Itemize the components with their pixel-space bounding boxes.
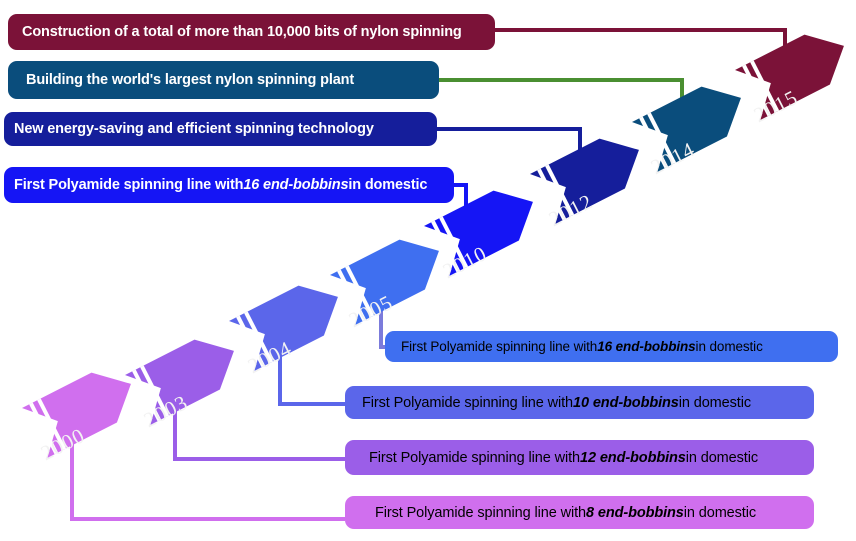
arrow-2004 (229, 272, 351, 371)
connector-2000 (72, 443, 345, 519)
label-text-2010-before: First Polyamide spinning line with (14, 177, 243, 193)
label-box-2012[interactable]: New energy-saving and efficient spinning… (4, 112, 437, 146)
label-box-2004[interactable]: First Polyamide spinning line with 10 en… (345, 386, 814, 419)
label-text-2004-after: in domestic (679, 395, 751, 411)
label-text-2004-before: First Polyamide spinning line with (362, 395, 573, 411)
label-emphasis-2000: 8 end-bobbins (586, 505, 684, 521)
label-emphasis-2010: 16 end-bobbins (243, 177, 348, 193)
label-box-2010[interactable]: First Polyamide spinning line with 16 en… (4, 167, 454, 203)
label-box-2015[interactable]: Construction of a total of more than 10,… (8, 14, 495, 50)
label-text-2000-before: First Polyamide spinning line with (375, 505, 586, 521)
label-text-2015: Construction of a total of more than 10,… (22, 24, 462, 40)
label-text-2012: New energy-saving and efficient spinning… (14, 121, 374, 137)
arrow-2012 (530, 125, 652, 224)
label-text-2000-after: in domestic (684, 505, 756, 521)
label-text-2014: Building the world's largest nylon spinn… (26, 72, 354, 88)
label-emphasis-2004: 10 end-bobbins (573, 395, 679, 411)
label-text-2010-after: in domestic (348, 177, 427, 193)
timeline-diagram: 2000 2003 2004 2005 2010 2012 2014 2015 … (0, 0, 856, 541)
label-box-2003[interactable]: First Polyamide spinning line with 12 en… (345, 440, 814, 475)
label-text-2003-after: in domestic (686, 450, 758, 466)
connector-2003 (175, 410, 345, 459)
label-text-2005-after: in domestic (696, 339, 763, 354)
label-text-2005-before: First Polyamide spinning line with (401, 339, 597, 354)
label-emphasis-2005: 16 end-bobbins (597, 339, 695, 354)
label-box-2014[interactable]: Building the world's largest nylon spinn… (8, 61, 439, 99)
connector-2015 (495, 30, 785, 86)
connector-2004 (280, 355, 345, 404)
label-box-2005[interactable]: First Polyamide spinning line with 16 en… (385, 331, 838, 362)
label-emphasis-2003: 12 end-bobbins (580, 450, 686, 466)
arrow-2000 (22, 359, 144, 458)
arrow-2014 (632, 73, 754, 172)
arrow-2003 (125, 326, 247, 425)
arrow-2015 (735, 21, 856, 120)
label-box-2000[interactable]: First Polyamide spinning line with 8 end… (345, 496, 814, 529)
label-text-2003-before: First Polyamide spinning line with (369, 450, 580, 466)
arrow-2005 (330, 226, 452, 325)
